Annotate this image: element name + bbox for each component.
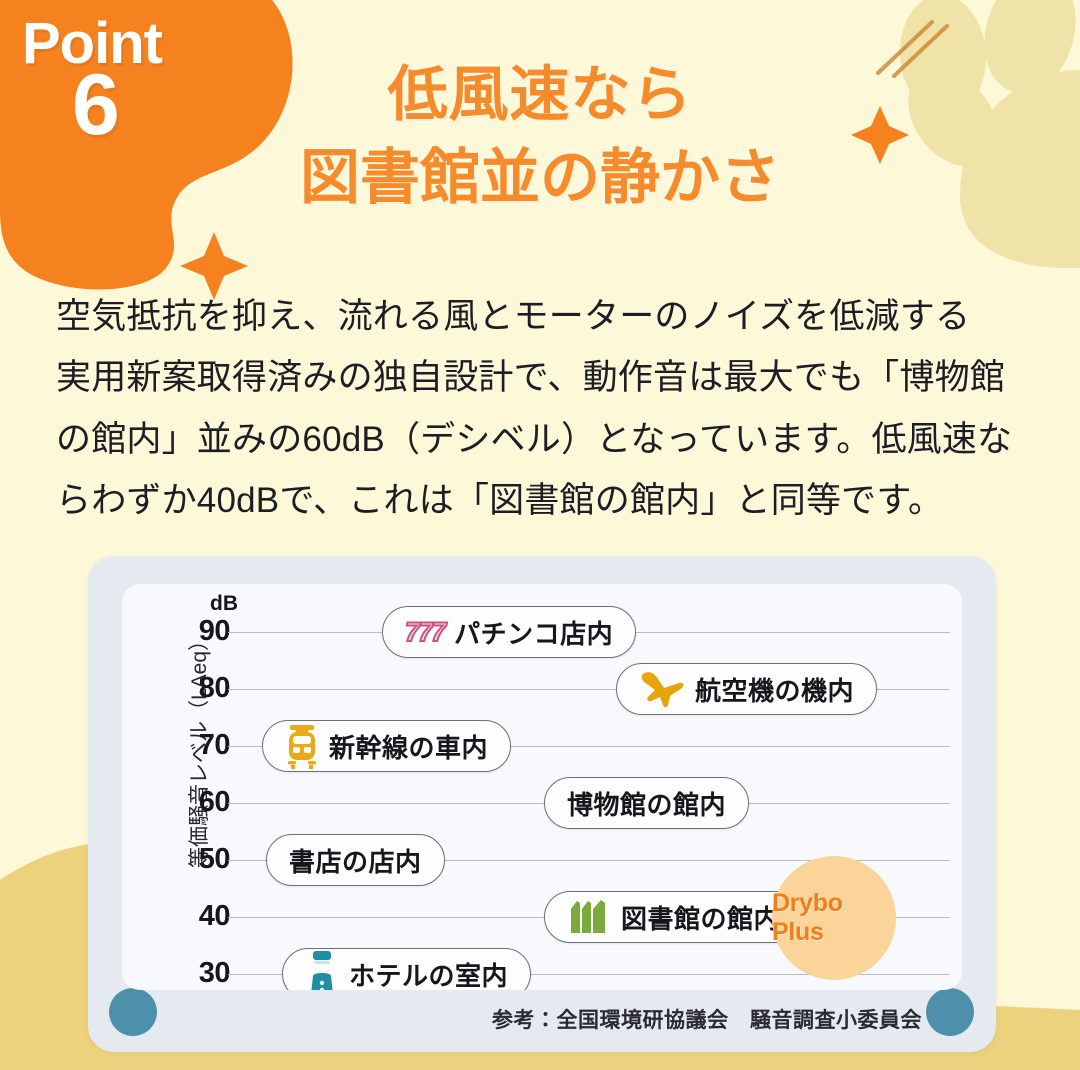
decorative-dot-right (926, 988, 974, 1036)
data-pill-hotel[interactable]: ホテルの室内 (282, 948, 531, 990)
body-line-2: 実用新案取得済みの独自設計で、動作音は最大でも「博物館 (56, 347, 1036, 408)
data-pill-shinkansen[interactable]: 新幹線の車内 (262, 720, 511, 772)
point-number: 6 (72, 62, 120, 148)
drybo-plus-label: Drybo Plus (772, 889, 896, 947)
y-tick-60: 60 (184, 786, 230, 819)
y-tick-70: 70 (184, 729, 230, 762)
decorative-dot-left (109, 988, 157, 1036)
bellhop-icon (305, 950, 339, 990)
y-tick-90: 90 (184, 615, 230, 648)
slot-777-icon: 777 (405, 617, 444, 648)
drybo-plus-marker: Drybo Plus (772, 856, 896, 980)
data-pill-pachinko-label: パチンコ店内 (454, 614, 613, 651)
headline-line-2: 図書館並の静かさ (230, 137, 850, 220)
y-tick-40: 40 (184, 900, 230, 933)
body-copy: 空気抵抗を抑え、流れる風とモーターのノイズを低減する 実用新案取得済みの独自設計… (56, 286, 1036, 531)
infographic-slide: Point 6 低風速なら 図書館並の静かさ 空気抵抗を抑え、流れる風とモーター… (0, 0, 1080, 1070)
y-axis-unit-label: dB (210, 592, 238, 616)
data-pill-airplane[interactable]: 航空機の機内 (616, 663, 877, 715)
train-icon (285, 723, 319, 769)
data-pill-bookstore-label: 書店の店内 (289, 842, 422, 879)
body-line-3: の館内」並みの60dB（デシベル）となっています。低風速な (56, 409, 1036, 470)
data-pill-bookstore[interactable]: 書店の店内 (266, 834, 445, 886)
y-tick-30: 30 (184, 957, 230, 990)
body-line-1: 空気抵抗を抑え、流れる風とモーターのノイズを低減する (56, 286, 1036, 347)
y-tick-80: 80 (184, 672, 230, 705)
data-pill-shinkansen-label: 新幹線の車内 (329, 728, 488, 765)
data-pill-hotel-label: ホテルの室内 (349, 956, 508, 991)
sparkle-star-icon-1 (851, 106, 909, 164)
paw-print-icon (890, 0, 1080, 268)
data-pill-library[interactable]: 図書館の館内 (544, 891, 803, 943)
data-pill-airplane-label: 航空機の機内 (695, 671, 854, 708)
data-pill-pachinko[interactable]: 777 パチンコ店内 (382, 606, 636, 658)
y-tick-50: 50 (184, 843, 230, 876)
chart-plot-area: 等価騒音レベル（LAeq） dB 90 80 70 60 50 (122, 584, 962, 990)
bottom-strip (0, 1052, 1080, 1070)
airplane-icon (639, 669, 685, 709)
headline: 低風速なら 図書館並の静かさ (230, 54, 850, 220)
body-line-4: らわずか40dBで、これは「図書館の館内」と同等です。 (56, 470, 1036, 531)
data-pill-library-label: 図書館の館内 (621, 899, 780, 936)
data-pill-museum-label: 博物館の館内 (567, 785, 726, 822)
noise-chart-card: 参考：全国環境研協議会 騒音調査小委員会 等価騒音レベル（LAeq） dB 90… (88, 556, 996, 1052)
books-icon (567, 897, 611, 937)
data-pill-museum[interactable]: 博物館の館内 (544, 777, 749, 829)
headline-line-1: 低風速なら (230, 54, 850, 137)
chart-source-note: 参考：全国環境研協議会 騒音調査小委員会 (492, 1004, 922, 1034)
